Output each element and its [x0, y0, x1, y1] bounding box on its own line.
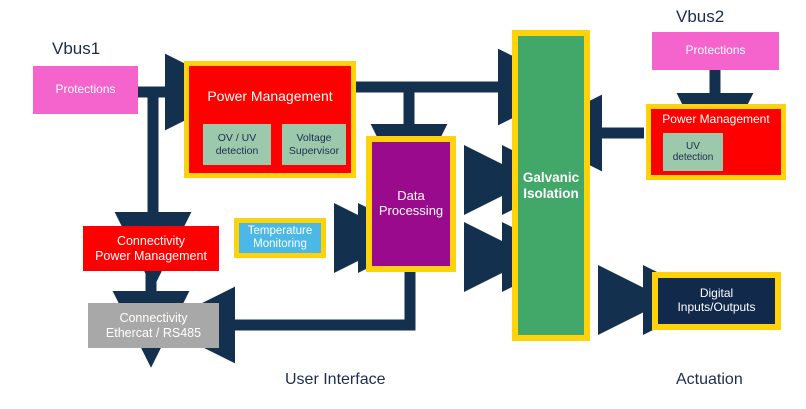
- bus-label-vbus2: Vbus2: [676, 7, 724, 27]
- connector-data-processing-to-ethercat: [233, 272, 410, 325]
- node-ov-uv-detection-label: OV / UV detection: [216, 132, 259, 156]
- node-connectivity-ethercat-label: Connectivity Ethercat / RS485: [106, 311, 201, 340]
- node-ov-uv-detection[interactable]: OV / UV detection: [203, 124, 271, 165]
- node-voltage-supervisor-label: Voltage Supervisor: [289, 132, 339, 156]
- node-galvanic-isolation-label: Galvanic Isolation: [523, 170, 579, 201]
- node-uv-detection-label: UV detection: [673, 141, 714, 164]
- node-data-processing[interactable]: Data Processing: [366, 136, 456, 272]
- node-protections-2[interactable]: Protections: [652, 32, 779, 70]
- node-connectivity-ethercat[interactable]: Connectivity Ethercat / RS485: [88, 303, 219, 348]
- block-diagram: Vbus1 Vbus2 Protections Power Management…: [0, 0, 806, 409]
- node-digital-io-label: Digital Inputs/Outputs: [677, 287, 755, 315]
- node-uv-detection[interactable]: UV detection: [663, 133, 723, 171]
- node-temperature-monitoring[interactable]: Temperature Monitoring: [234, 218, 326, 258]
- node-protections-1-label: Protections: [55, 83, 115, 97]
- node-protections-1[interactable]: Protections: [33, 66, 138, 114]
- node-power-management-1[interactable]: Power Management OV / UV detection Volta…: [184, 61, 356, 178]
- node-power-management-2-label: Power Management: [651, 113, 781, 127]
- node-protections-2-label: Protections: [685, 44, 745, 58]
- node-temperature-monitoring-label: Temperature Monitoring: [248, 225, 313, 251]
- node-connectivity-power-management[interactable]: Connectivity Power Management: [83, 226, 219, 271]
- node-connectivity-power-management-label: Connectivity Power Management: [95, 234, 207, 263]
- node-galvanic-isolation[interactable]: Galvanic Isolation: [512, 30, 590, 341]
- caption-actuation: Actuation: [676, 371, 743, 389]
- node-power-management-2[interactable]: Power Management UV detection: [646, 104, 786, 180]
- caption-user-interface: User Interface: [285, 371, 385, 389]
- node-digital-io[interactable]: Digital Inputs/Outputs: [652, 272, 781, 330]
- bus-label-vbus1: Vbus1: [52, 39, 100, 59]
- node-data-processing-label: Data Processing: [379, 189, 443, 219]
- node-voltage-supervisor[interactable]: Voltage Supervisor: [282, 124, 346, 165]
- node-power-management-1-label: Power Management: [189, 88, 351, 104]
